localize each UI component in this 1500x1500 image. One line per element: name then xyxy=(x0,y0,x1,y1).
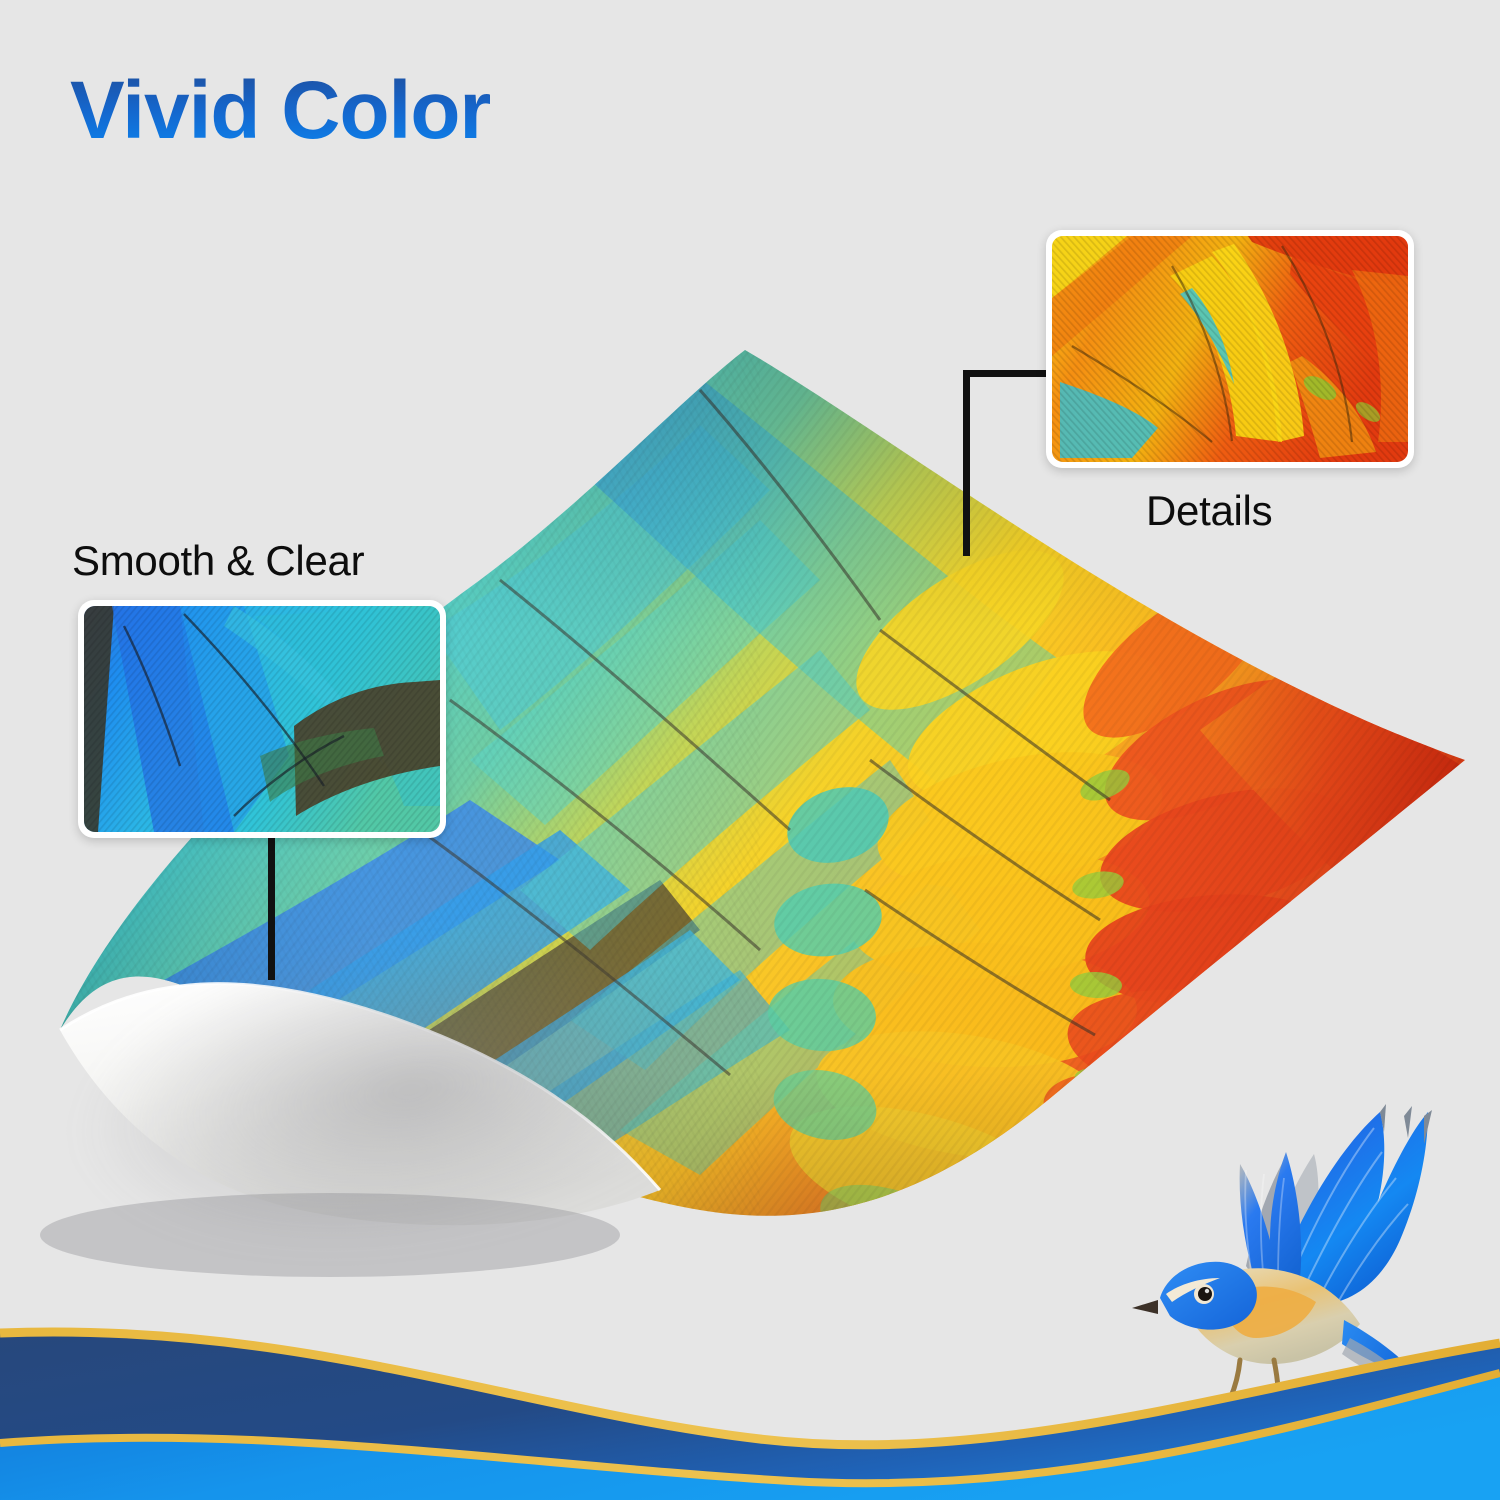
bottom-wave-decoration xyxy=(0,1315,1500,1500)
leader-line-details-horizontal xyxy=(963,370,1053,377)
details-inset-image xyxy=(1052,236,1408,462)
callout-label-details: Details xyxy=(1146,487,1272,535)
smooth-inset-image xyxy=(84,606,440,832)
callout-label-smooth-and-clear: Smooth & Clear xyxy=(72,537,364,585)
leader-line-details-vertical xyxy=(963,370,970,556)
wave-graphic xyxy=(0,1315,1500,1500)
zoom-inset-details xyxy=(1046,230,1414,468)
page-title: Vivid Color xyxy=(70,68,490,154)
zoom-inset-smooth-and-clear xyxy=(78,600,446,838)
leader-line-smooth-and-clear xyxy=(268,838,275,980)
